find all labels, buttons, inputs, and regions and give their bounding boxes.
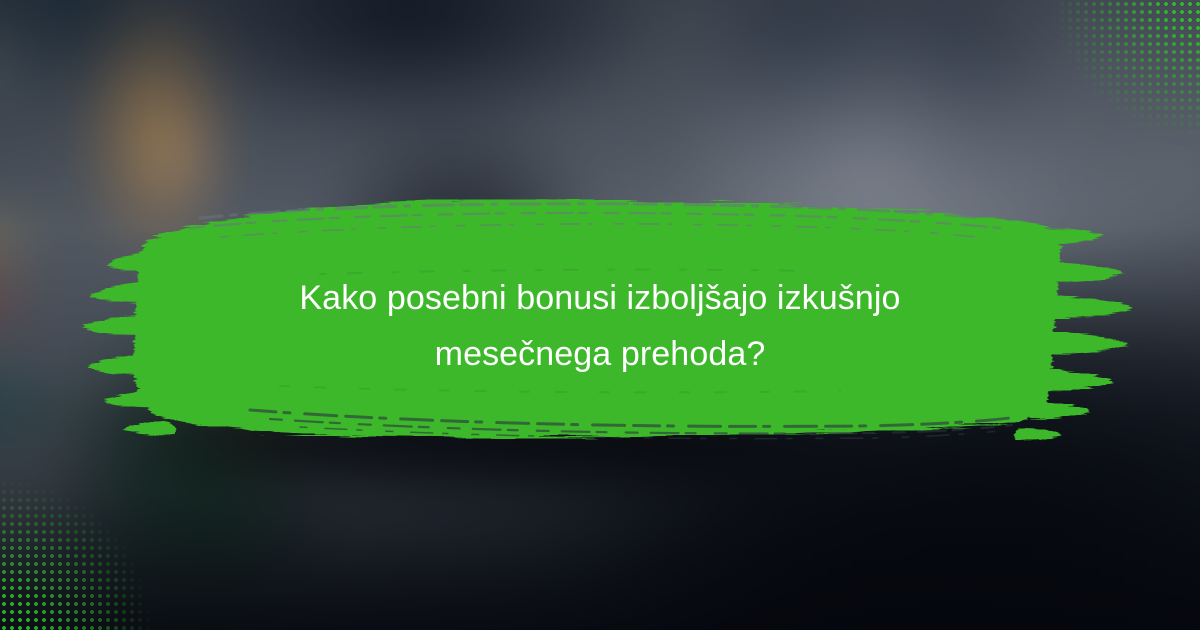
banner-canvas: Kako posebni bonusi izboljšajo izkušnjo … xyxy=(0,0,1200,630)
banner-headline: Kako posebni bonusi izboljšajo izkušnjo … xyxy=(0,270,1200,382)
